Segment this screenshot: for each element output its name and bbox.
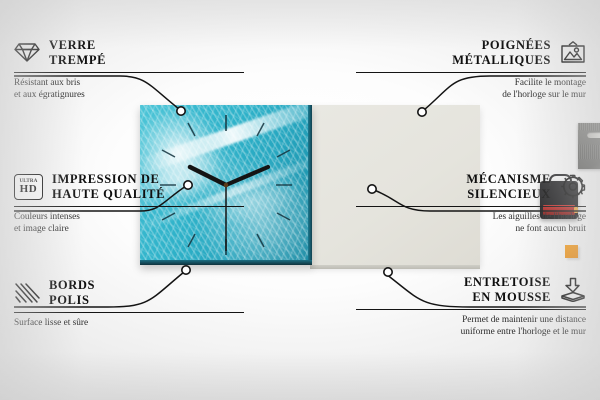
feature-title: POIGNÉES MÉTALLIQUES [452, 38, 551, 68]
feature-description: Les aiguilles de l'horloge ne font aucun… [356, 211, 586, 236]
feature-header: ENTRETOISE EN MOUSSE [356, 275, 586, 305]
feature-header: BORDS POLIS [14, 278, 244, 308]
divider [356, 72, 586, 73]
divider [356, 309, 586, 310]
picture-frame-hanger-icon [560, 41, 586, 65]
feature-title: MÉCANISME SILENCIEUX [466, 172, 551, 202]
divider [14, 206, 244, 207]
feature-title: ENTRETOISE EN MOUSSE [464, 275, 551, 305]
ultra-hd-badge-icon: ultra HD [14, 174, 43, 200]
clock-right-edge [308, 105, 312, 265]
gear-icon [560, 174, 586, 199]
feature-poignees-metalliques: POIGNÉES MÉTALLIQUES Facilite le montage… [356, 38, 586, 102]
divider [14, 72, 244, 73]
feature-mecanisme-silencieux: MÉCANISME SILENCIEUX Les aiguilles de l'… [356, 172, 586, 236]
feature-header: POIGNÉES MÉTALLIQUES [356, 38, 586, 68]
foam-spacer-part [565, 245, 578, 258]
feature-description: Surface lisse et sûre [14, 317, 244, 330]
badge-text-hd: HD [20, 184, 38, 195]
divider [356, 206, 586, 207]
infographic-canvas: VERRE TREMPÉ Résistant aux bris et aux é… [0, 0, 600, 400]
feature-description: Résistant aux bris et aux égratignures [14, 77, 244, 102]
feature-description: Couleurs intenses et image claire [14, 211, 244, 236]
feature-bords-polis: BORDS POLIS Surface lisse et sûre [14, 278, 244, 329]
feature-title: IMPRESSION DE HAUTE QUALITÉ [52, 172, 165, 202]
metal-hanger-part [578, 123, 600, 169]
feature-title: VERRE TREMPÉ [49, 38, 106, 68]
arrow-down-pad-icon [560, 277, 586, 302]
feature-description: Facilite le montage de l'horloge sur le … [356, 77, 586, 102]
feature-entretoise-en-mousse: ENTRETOISE EN MOUSSE Permet de maintenir… [356, 275, 586, 339]
divider [14, 312, 244, 313]
feature-title: BORDS POLIS [49, 278, 95, 308]
feature-header: ultra HD IMPRESSION DE HAUTE QUALITÉ [14, 172, 244, 202]
polished-edges-icon [14, 282, 40, 304]
feature-verre-trempe: VERRE TREMPÉ Résistant aux bris et aux é… [14, 38, 244, 102]
feature-description: Permet de maintenir une distance uniform… [356, 314, 586, 339]
hanger-slot [587, 132, 600, 138]
diamond-icon [14, 42, 40, 63]
clock-bottom-edge [140, 260, 312, 265]
feature-header: MÉCANISME SILENCIEUX [356, 172, 586, 202]
feature-impression-haute-qualite: ultra HD IMPRESSION DE HAUTE QUALITÉ Cou… [14, 172, 244, 236]
feature-header: VERRE TREMPÉ [14, 38, 244, 68]
